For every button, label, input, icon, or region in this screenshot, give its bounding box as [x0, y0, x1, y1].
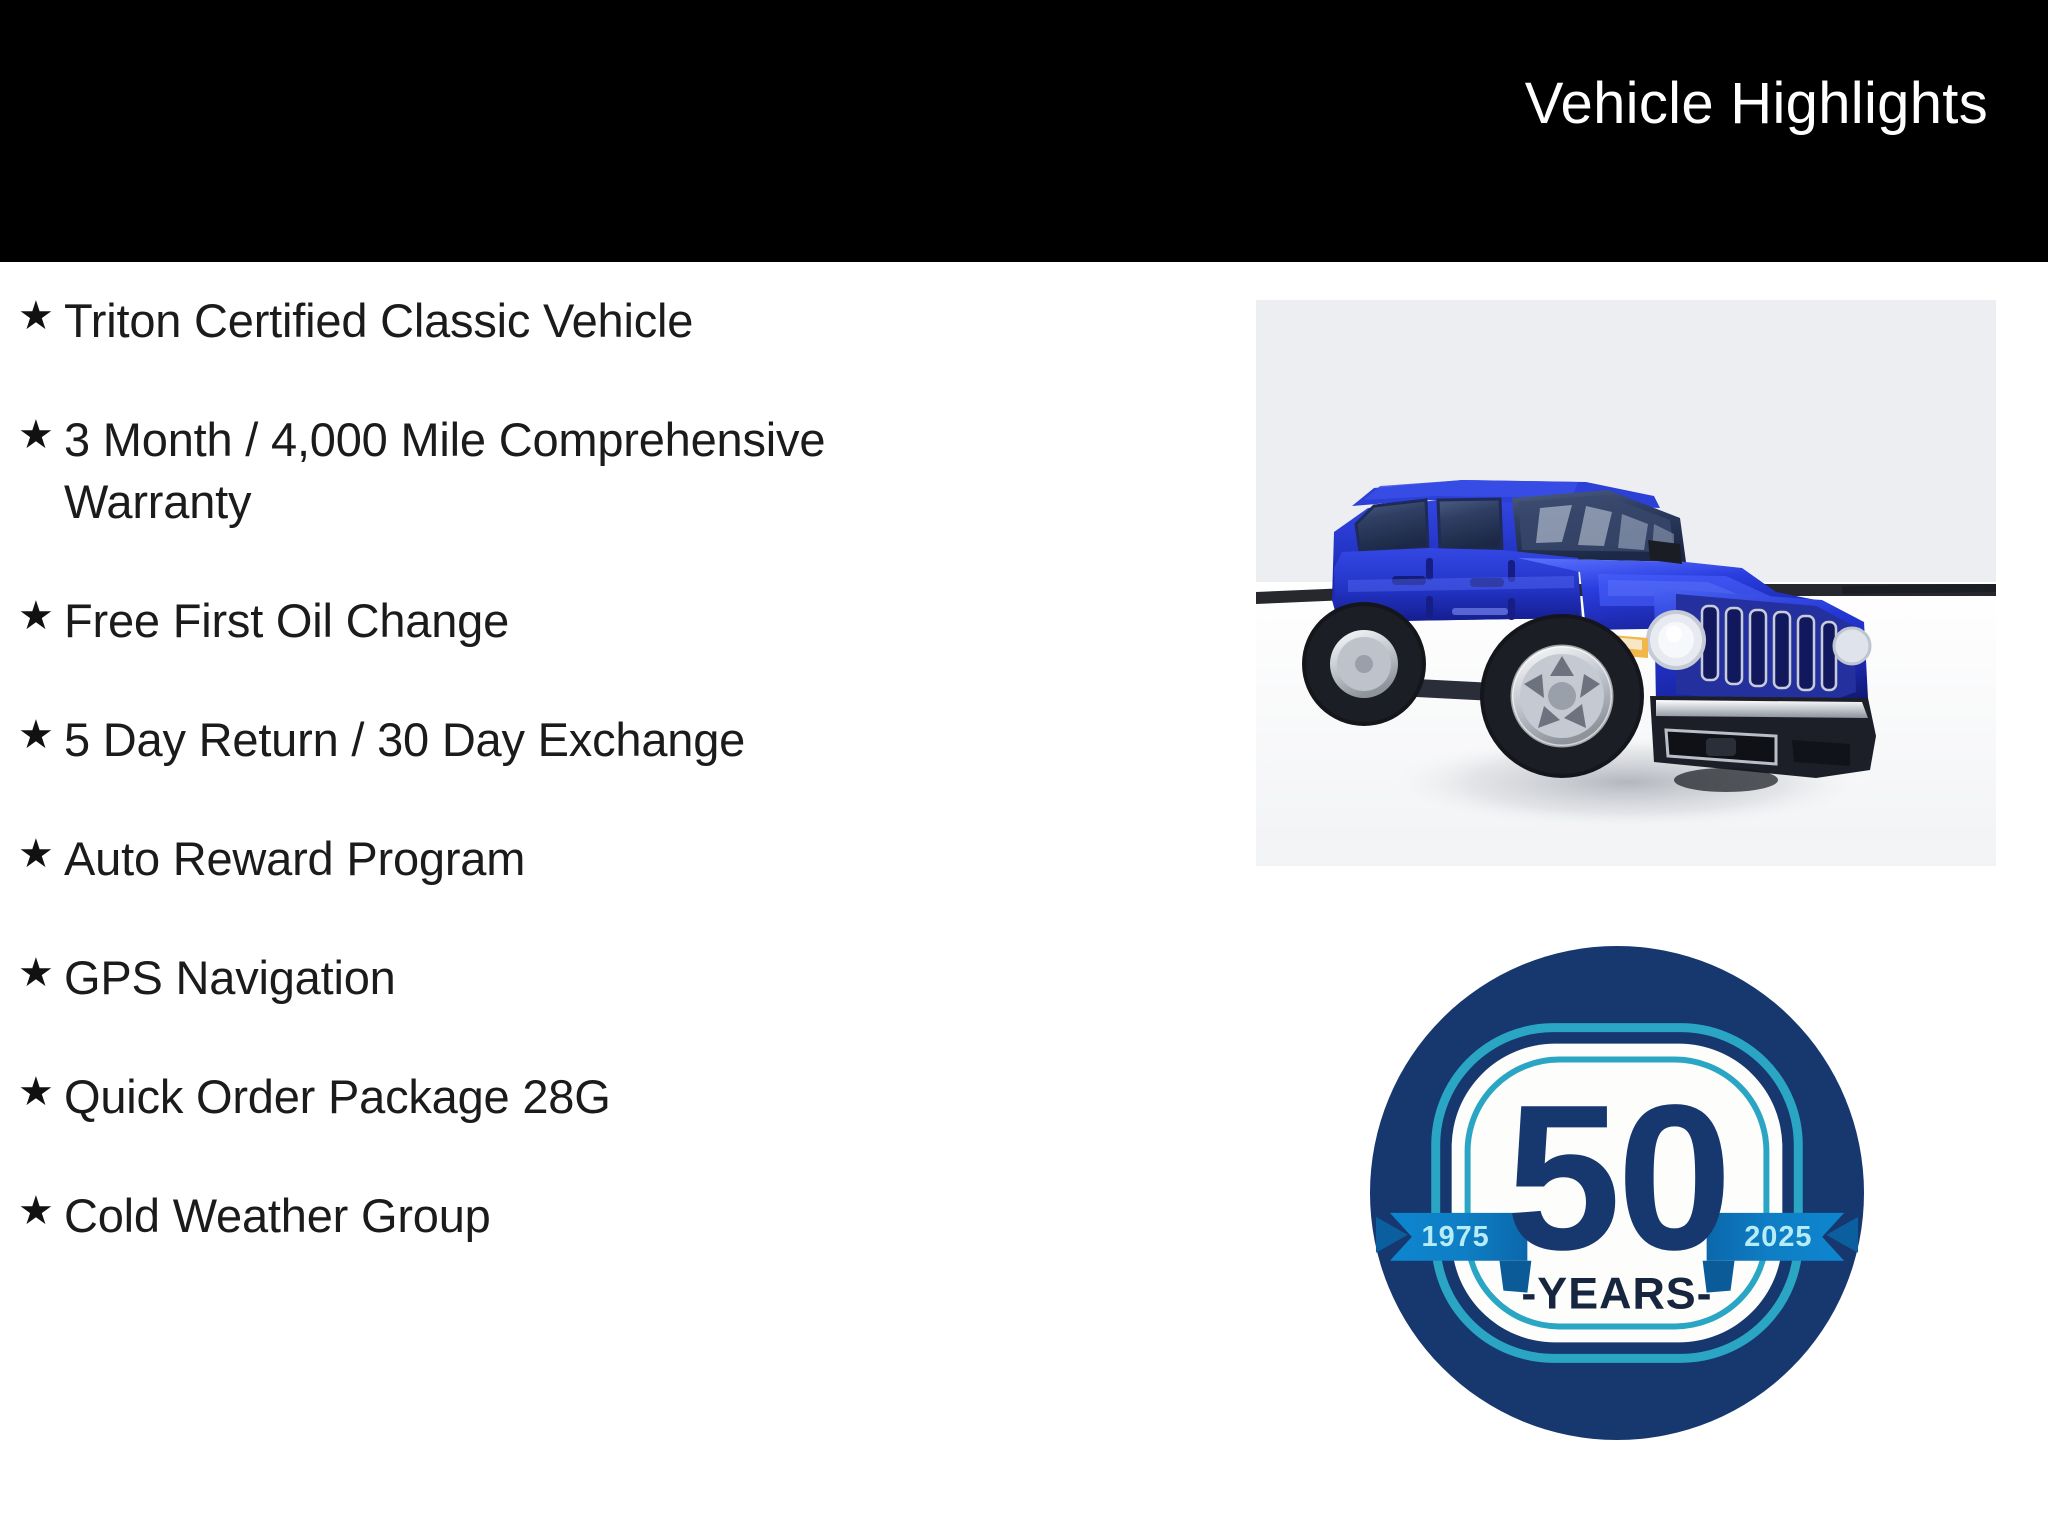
highlight-label: GPS Navigation	[64, 947, 1120, 1009]
list-item: ★ Quick Order Package 28G	[0, 1066, 1120, 1128]
list-item: ★ Auto Reward Program	[0, 828, 1120, 890]
star-icon: ★	[18, 590, 64, 642]
highlight-label: Free First Oil Change	[64, 590, 1120, 652]
highlight-label: Cold Weather Group	[64, 1185, 1120, 1247]
star-icon: ★	[18, 709, 64, 761]
badge-end-year-text: 2025	[1744, 1221, 1812, 1253]
badge-start-year-text: 1975	[1422, 1221, 1490, 1253]
highlight-label: Triton Certified Classic Vehicle	[64, 290, 1120, 352]
star-icon: ★	[18, 409, 64, 461]
list-item: ★ GPS Navigation	[0, 947, 1120, 1009]
page-header: Vehicle Highlights	[0, 0, 2048, 262]
vehicle-highlights-page: Vehicle Highlights ★ Triton Certified Cl…	[0, 0, 2048, 1536]
list-item: ★ 3 Month / 4,000 Mile Comprehensive War…	[0, 409, 1120, 533]
list-item: ★ Cold Weather Group	[0, 1185, 1120, 1247]
vehicle-highlights-list: ★ Triton Certified Classic Vehicle ★ 3 M…	[0, 290, 1120, 1247]
star-icon: ★	[18, 828, 64, 880]
star-icon: ★	[18, 947, 64, 999]
badge-number-text: 50	[1506, 1061, 1728, 1293]
highlight-label: 5 Day Return / 30 Day Exchange	[64, 709, 1120, 771]
highlight-label: Quick Order Package 28G	[64, 1066, 1120, 1128]
star-icon: ★	[18, 1066, 64, 1118]
anniversary-badge: 1975 2025 50 -YEARS-	[1368, 944, 1866, 1442]
list-item: ★ Triton Certified Classic Vehicle	[0, 290, 1120, 352]
list-item: ★ 5 Day Return / 30 Day Exchange	[0, 709, 1120, 771]
list-item: ★ Free First Oil Change	[0, 590, 1120, 652]
highlight-label: 3 Month / 4,000 Mile Comprehensive Warra…	[64, 409, 1120, 533]
badge-years-text: -YEARS-	[1521, 1269, 1712, 1319]
star-icon: ★	[18, 290, 64, 342]
highlight-label: Auto Reward Program	[64, 828, 1120, 890]
page-title: Vehicle Highlights	[1525, 72, 1988, 136]
star-icon: ★	[18, 1185, 64, 1237]
vehicle-photo	[1256, 300, 1996, 866]
